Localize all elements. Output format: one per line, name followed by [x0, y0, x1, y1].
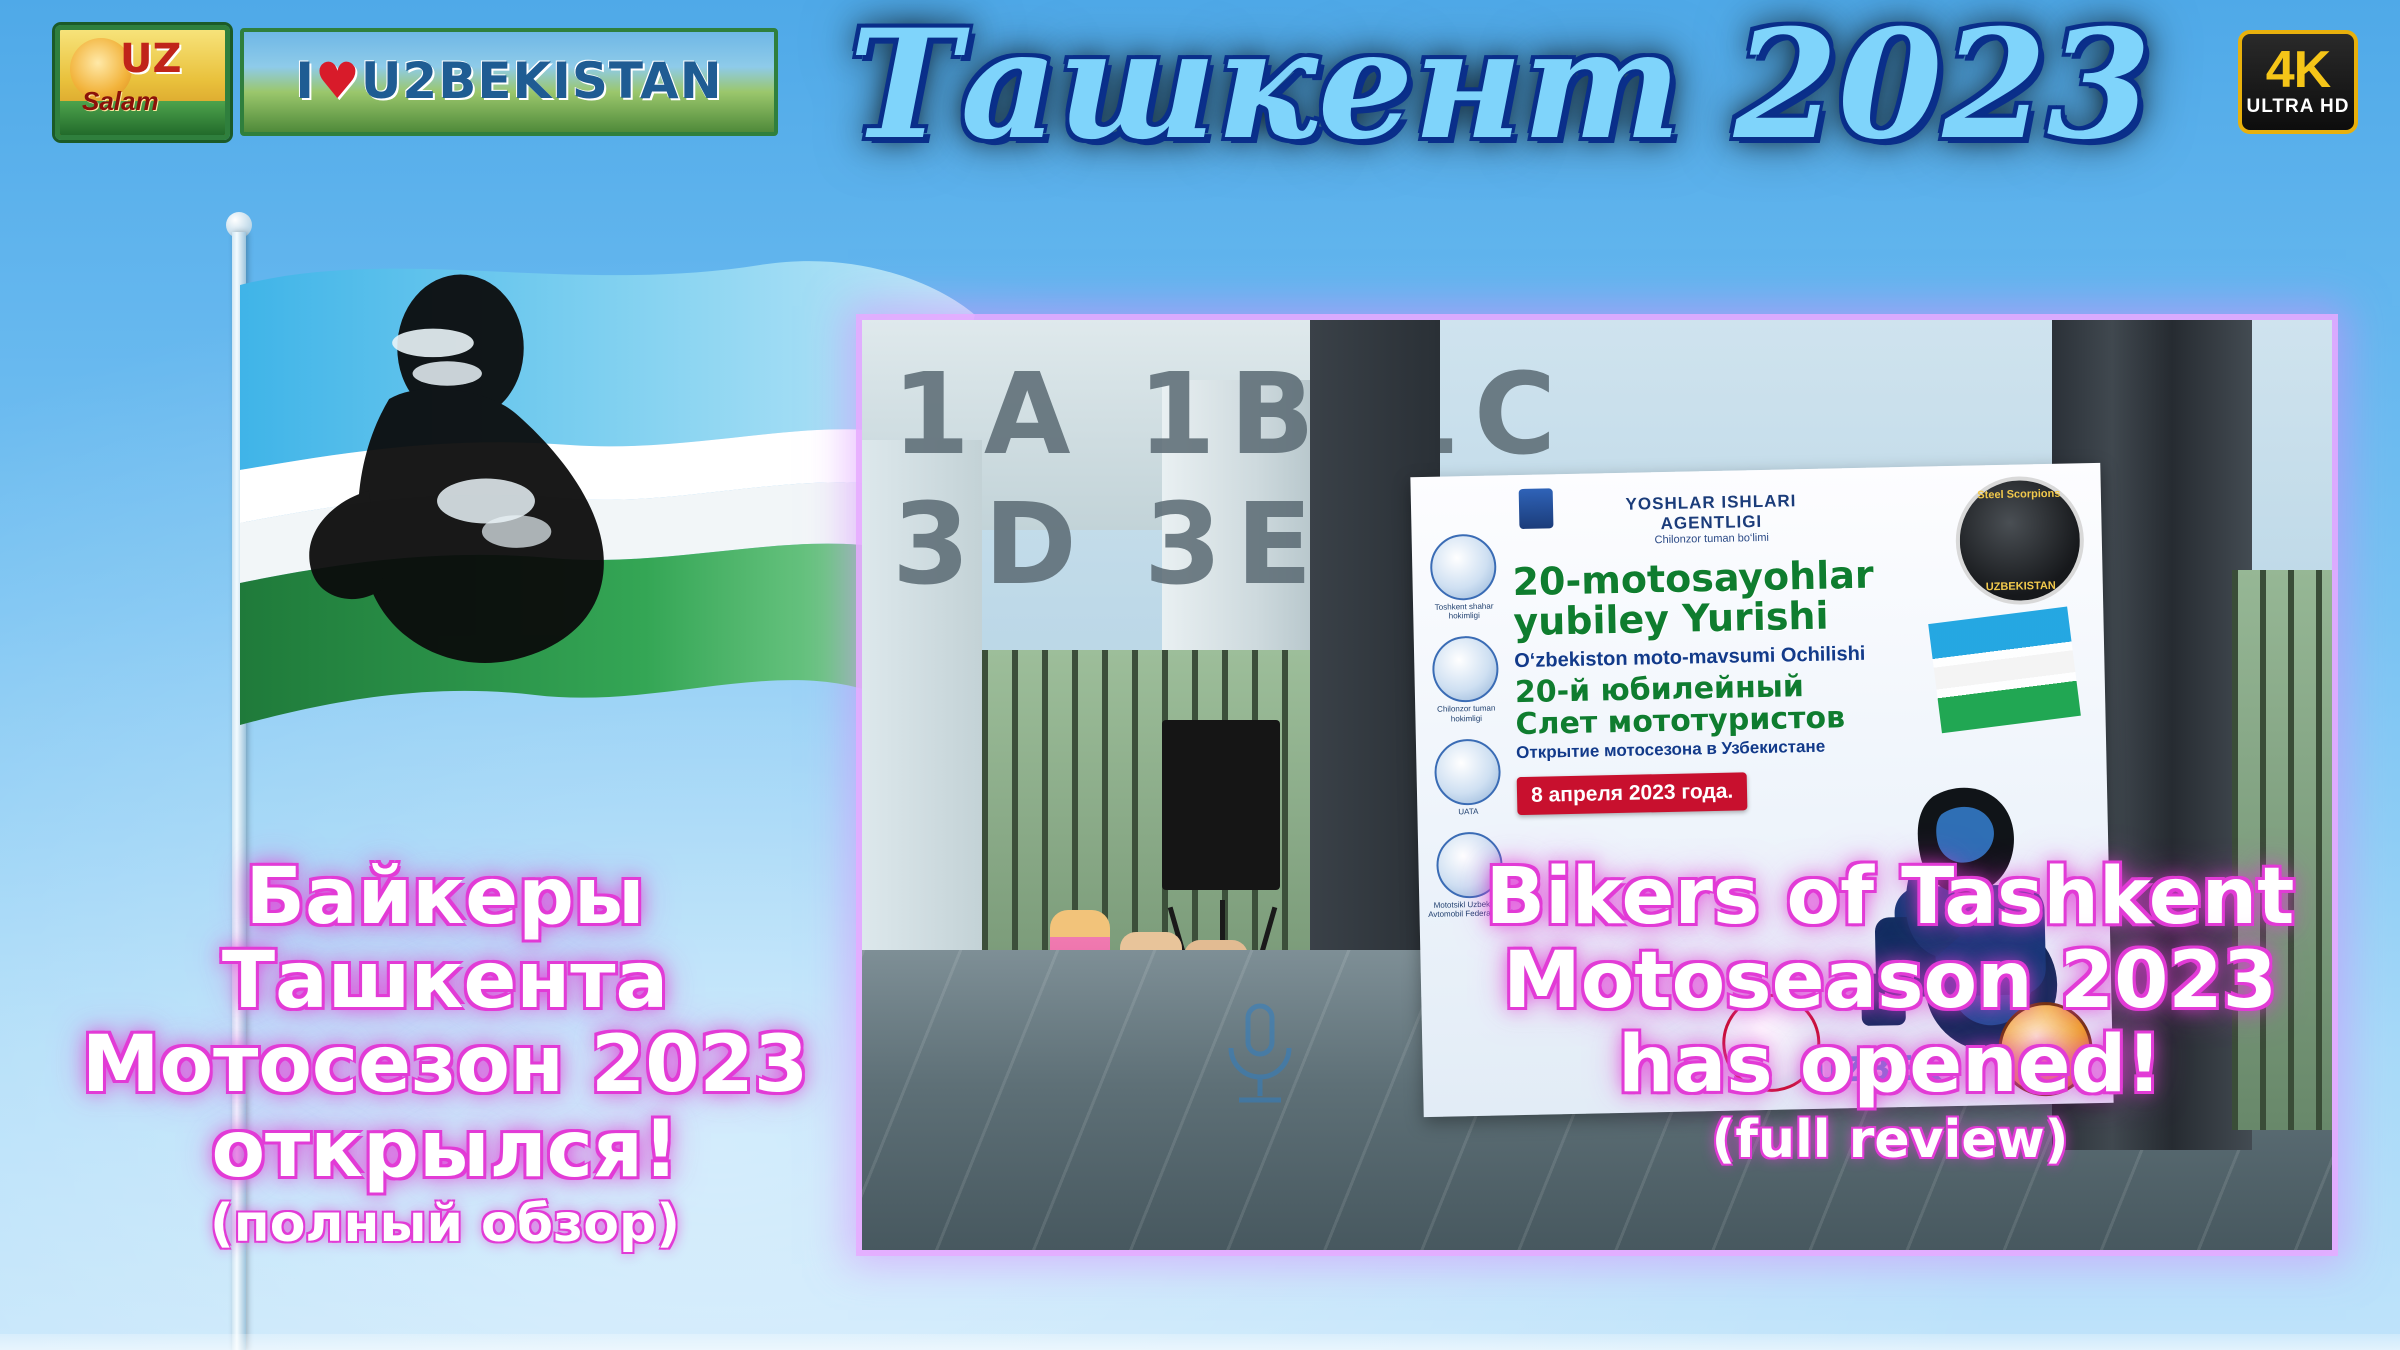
banner-title-uz: 20-motosayohlar yubiley Yurishi [1512, 554, 1944, 643]
caption-en-sub: (full review) [1390, 1112, 2390, 1169]
banner-subtitle-uz: O‘zbekiston moto-mavsumi Ochilishi [1514, 641, 1944, 673]
badge-4k-label: 4K [2266, 46, 2330, 95]
steel-scorpions-badge: Steel Scorpions UZBEKISTAN [1955, 475, 2086, 606]
sponsor-caption-1: Toshkent shahar hokimligi [1421, 601, 1507, 621]
caption-en-line3: has opened! [1390, 1023, 2390, 1107]
i-letter: I [295, 52, 315, 110]
banner-title-ru-line2: Слет мототуристов [1515, 700, 1946, 740]
quality-badge: 4K ULTRA HD [2238, 30, 2358, 134]
sponsor-logo-2: Chilonzor tuman hokimligi [1422, 636, 1510, 724]
caption-ru-sub: (полный обзор) [10, 1196, 880, 1253]
bottom-edge [0, 1334, 2400, 1350]
caption-ru-line1: Байкеры Ташкента [10, 855, 880, 1023]
sponsor-caption-2: Chilonzor tuman hokimligi [1423, 704, 1509, 724]
i-love-uzbekistan-text: I♥U2BEKISTAN [244, 52, 774, 110]
banner-title-ru: 20-й юбилейный Слет мототуристов [1515, 668, 1946, 740]
badge-ultrahd-label: ULTRA HD [2247, 96, 2350, 118]
banner-org-header: YOSHLAR ISHLARI AGENTLIGI Chilonzor tuma… [1561, 490, 1862, 548]
club-badge-top-text: Steel Scorpions [1959, 487, 2079, 502]
banner-flag-icon [1928, 607, 2081, 734]
caption-en-line1: Bikers of Tashkent [1390, 855, 2390, 939]
caption-english: Bikers of Tashkent Motoseason 2023 has o… [1390, 855, 2390, 1169]
photo-speaker [1162, 720, 1280, 890]
caption-ru-line3: открылся! [10, 1108, 880, 1192]
caption-russian: Байкеры Ташкента Мотосезон 2023 открылся… [10, 855, 880, 1253]
caption-ru-line2: Мотосезон 2023 [10, 1023, 880, 1107]
uz-salam-logo[interactable]: UZ Salam [55, 25, 230, 140]
banner-date: 8 апреля 2023 года. [1517, 772, 1748, 815]
caption-en-line2: Motoseason 2023 [1390, 939, 2390, 1023]
club-badge-bottom-text: UZBEKISTAN [1961, 579, 2081, 594]
microphone-watermark-icon [1215, 1000, 1305, 1110]
sponsor-circle-icon [1434, 738, 1501, 805]
thumbnail-canvas: UZ Salam I♥U2BEKISTAN Ташкент 2023 4K UL… [0, 0, 2400, 1350]
state-emblem-icon [1519, 488, 1554, 529]
uz-salam-logo-main: UZ [120, 36, 181, 82]
sponsor-circle-icon [1432, 636, 1499, 703]
i-love-uzbekistan-logo[interactable]: I♥U2BEKISTAN [240, 28, 778, 136]
sponsor-circle-icon [1430, 534, 1497, 601]
sponsor-caption-3: UATA [1425, 806, 1511, 817]
banner-title-uz-line2: yubiley Yurishi [1513, 594, 1944, 643]
uzbekistan-letters: U2BEKISTAN [361, 52, 723, 110]
page-title: Ташкент 2023 [790, 10, 2210, 160]
heart-icon: ♥ [315, 52, 361, 110]
sponsor-logo-3: UATA [1424, 738, 1512, 817]
sponsor-logo-1: Toshkent shahar hokimligi [1420, 533, 1508, 621]
uz-salam-logo-sub: Salam [82, 86, 159, 117]
